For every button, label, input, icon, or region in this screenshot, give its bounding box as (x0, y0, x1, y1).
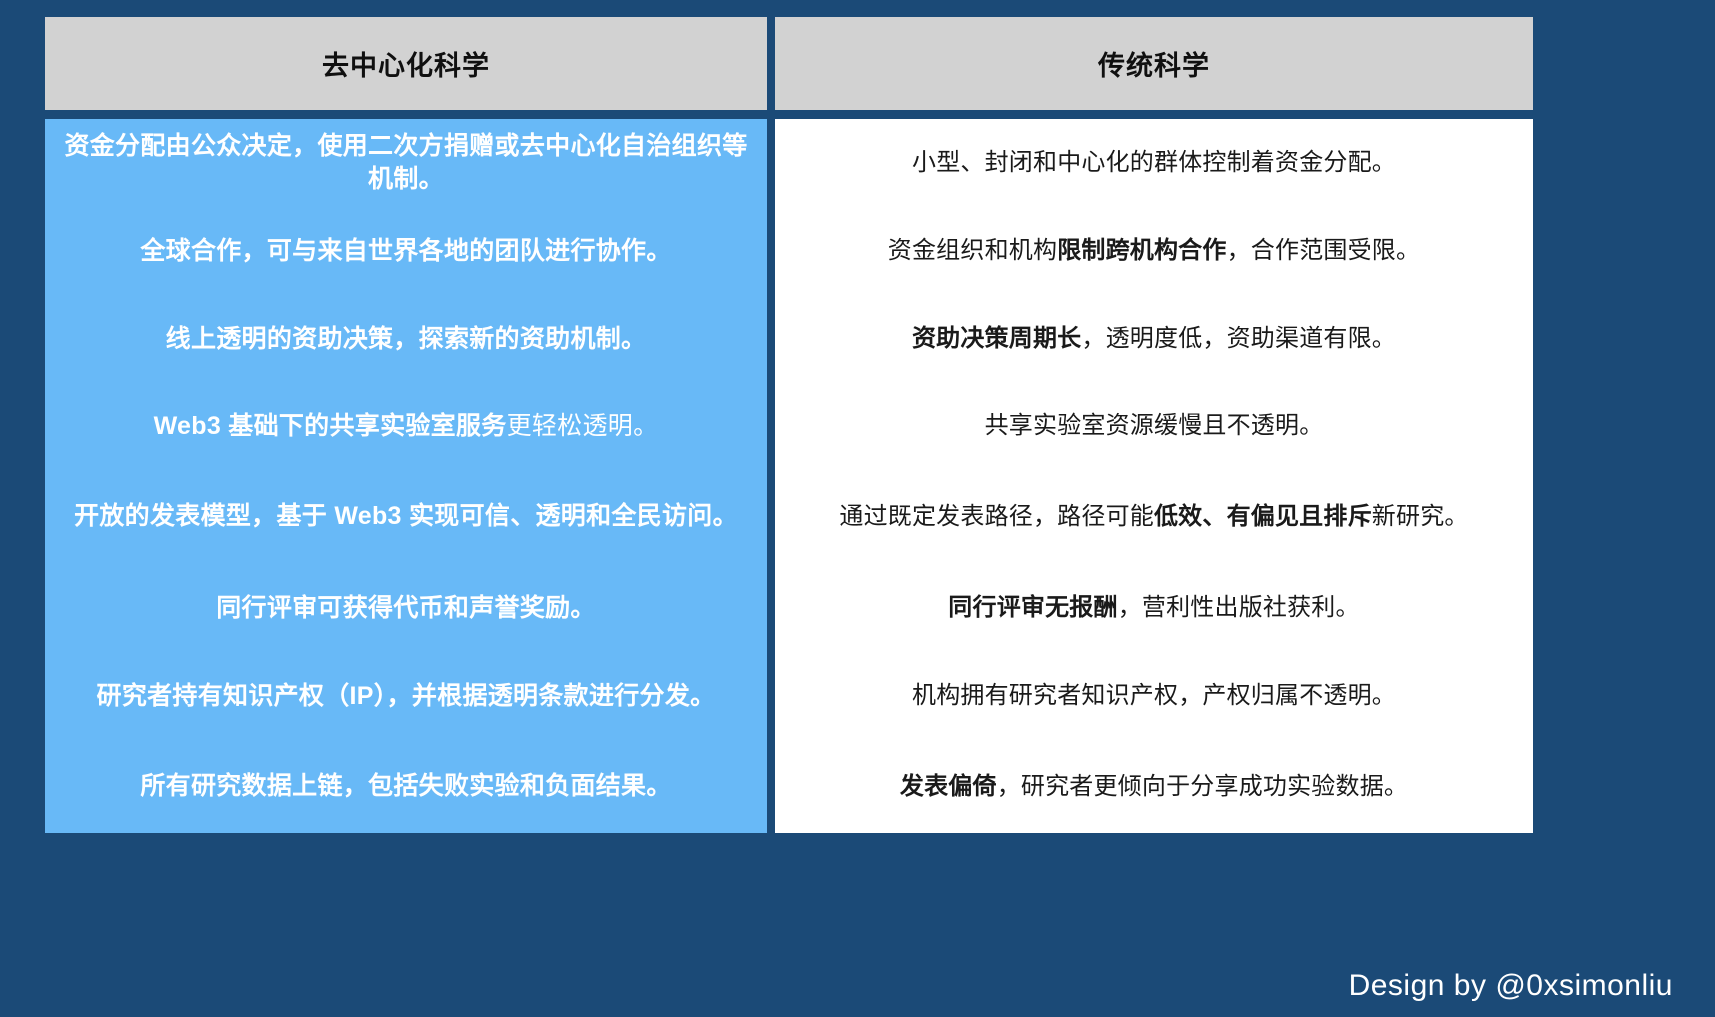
comparison-table-page: 去中心化科学 传统科学 资金分配由公众决定，使用二次方捐赠或去中心化自治组织等机… (0, 0, 1715, 1017)
emphasis-text: 限制跨机构合作 (1057, 237, 1226, 264)
decentralized-science-cell: 线上透明的资助决策，探索新的资助机制。 (45, 295, 767, 383)
table-body: 资金分配由公众决定，使用二次方捐赠或去中心化自治组织等机制。小型、封闭和中心化的… (45, 119, 1533, 833)
plain-text: ，透明度低，资助渠道有限。 (1081, 325, 1396, 352)
cell-text: 线上透明的资助决策，探索新的资助机制。 (166, 323, 647, 356)
emphasis-text: 同行评审无报酬 (948, 594, 1117, 621)
cell-text: 所有研究数据上链，包括失败实验和负面结果。 (140, 770, 671, 803)
table-header-row: 去中心化科学 传统科学 (45, 17, 1533, 110)
cell-text: 通过既定发表路径，路径可能低效、有偏见且排斥新研究。 (839, 501, 1468, 533)
cell-text: 全球合作，可与来自世界各地的团队进行协作。 (140, 235, 671, 268)
emphasis-text: Web3 基础下的共享实验室服务 (154, 412, 507, 440)
emphasis-text: 资助决策周期长 (912, 325, 1081, 352)
cell-text: 同行评审可获得代币和声誉奖励。 (216, 592, 596, 625)
plain-text: 通过既定发表路径，路径可能 (839, 503, 1154, 530)
table-row: 所有研究数据上链，包括失败实验和负面结果。发表偏倚，研究者更倾向于分享成功实验数… (45, 740, 1533, 833)
decentralized-science-cell: 开放的发表模型，基于 Web3 实现可信、透明和全民访问。 (45, 469, 767, 564)
cell-text: 资金组织和机构限制跨机构合作，合作范围受限。 (888, 235, 1420, 267)
emphasis-text: 低效、有偏见且排斥 (1154, 503, 1372, 530)
traditional-science-cell: 同行评审无报酬，营利性出版社获利。 (775, 564, 1533, 652)
traditional-science-cell: 资助决策周期长，透明度低，资助渠道有限。 (775, 295, 1533, 383)
table-row: 研究者持有知识产权（IP），并根据透明条款进行分发。机构拥有研究者知识产权，产权… (45, 652, 1533, 740)
column-header-decentralized-science: 去中心化科学 (45, 17, 767, 110)
traditional-science-cell: 小型、封闭和中心化的群体控制着资金分配。 (775, 119, 1533, 207)
plain-text: 更轻松透明。 (507, 412, 659, 440)
traditional-science-cell: 通过既定发表路径，路径可能低效、有偏见且排斥新研究。 (775, 469, 1533, 564)
plain-text: 机构拥有研究者知识产权，产权归属不透明。 (912, 682, 1396, 709)
cell-text: 小型、封闭和中心化的群体控制着资金分配。 (912, 147, 1396, 179)
cell-text: Web3 基础下的共享实验室服务更轻松透明。 (154, 410, 659, 443)
design-credit: Design by @0xsimonliu (1349, 969, 1673, 1003)
column-header-traditional-science: 传统科学 (775, 17, 1533, 110)
cell-text: 资金分配由公众决定，使用二次方捐赠或去中心化自治组织等机制。 (59, 130, 753, 196)
comparison-table: 去中心化科学 传统科学 资金分配由公众决定，使用二次方捐赠或去中心化自治组织等机… (45, 17, 1533, 833)
plain-text: 新研究。 (1372, 503, 1469, 530)
decentralized-science-cell: 资金分配由公众决定，使用二次方捐赠或去中心化自治组织等机制。 (45, 119, 767, 207)
cell-text: 发表偏倚，研究者更倾向于分享成功实验数据。 (900, 771, 1408, 803)
decentralized-science-cell: Web3 基础下的共享实验室服务更轻松透明。 (45, 383, 767, 469)
traditional-science-cell: 共享实验室资源缓慢且不透明。 (775, 383, 1533, 469)
cell-text: 资助决策周期长，透明度低，资助渠道有限。 (912, 323, 1396, 355)
traditional-science-cell: 发表偏倚，研究者更倾向于分享成功实验数据。 (775, 740, 1533, 833)
table-row: 同行评审可获得代币和声誉奖励。同行评审无报酬，营利性出版社获利。 (45, 564, 1533, 652)
cell-text: 机构拥有研究者知识产权，产权归属不透明。 (912, 680, 1396, 712)
plain-text: 小型、封闭和中心化的群体控制着资金分配。 (912, 149, 1396, 176)
cell-text: 研究者持有知识产权（IP），并根据透明条款进行分发。 (97, 680, 716, 713)
table-row: 开放的发表模型，基于 Web3 实现可信、透明和全民访问。通过既定发表路径，路径… (45, 469, 1533, 564)
traditional-science-cell: 机构拥有研究者知识产权，产权归属不透明。 (775, 652, 1533, 740)
decentralized-science-cell: 研究者持有知识产权（IP），并根据透明条款进行分发。 (45, 652, 767, 740)
cell-text: 开放的发表模型，基于 Web3 实现可信、透明和全民访问。 (74, 500, 738, 533)
plain-text: ，营利性出版社获利。 (1118, 594, 1360, 621)
cell-text: 同行评审无报酬，营利性出版社获利。 (948, 592, 1359, 624)
decentralized-science-cell: 全球合作，可与来自世界各地的团队进行协作。 (45, 207, 767, 295)
traditional-science-cell: 资金组织和机构限制跨机构合作，合作范围受限。 (775, 207, 1533, 295)
emphasis-text: 发表偏倚 (900, 773, 997, 800)
plain-text: ，合作范围受限。 (1227, 237, 1421, 264)
plain-text: 共享实验室资源缓慢且不透明。 (985, 412, 1324, 439)
table-row: 资金分配由公众决定，使用二次方捐赠或去中心化自治组织等机制。小型、封闭和中心化的… (45, 119, 1533, 207)
decentralized-science-cell: 同行评审可获得代币和声誉奖励。 (45, 564, 767, 652)
table-row: 全球合作，可与来自世界各地的团队进行协作。资金组织和机构限制跨机构合作，合作范围… (45, 207, 1533, 295)
table-row: 线上透明的资助决策，探索新的资助机制。资助决策周期长，透明度低，资助渠道有限。 (45, 295, 1533, 383)
table-row: Web3 基础下的共享实验室服务更轻松透明。共享实验室资源缓慢且不透明。 (45, 383, 1533, 469)
plain-text: 资金组织和机构 (888, 237, 1057, 264)
plain-text: ，研究者更倾向于分享成功实验数据。 (997, 773, 1408, 800)
cell-text: 共享实验室资源缓慢且不透明。 (985, 410, 1324, 442)
decentralized-science-cell: 所有研究数据上链，包括失败实验和负面结果。 (45, 740, 767, 833)
